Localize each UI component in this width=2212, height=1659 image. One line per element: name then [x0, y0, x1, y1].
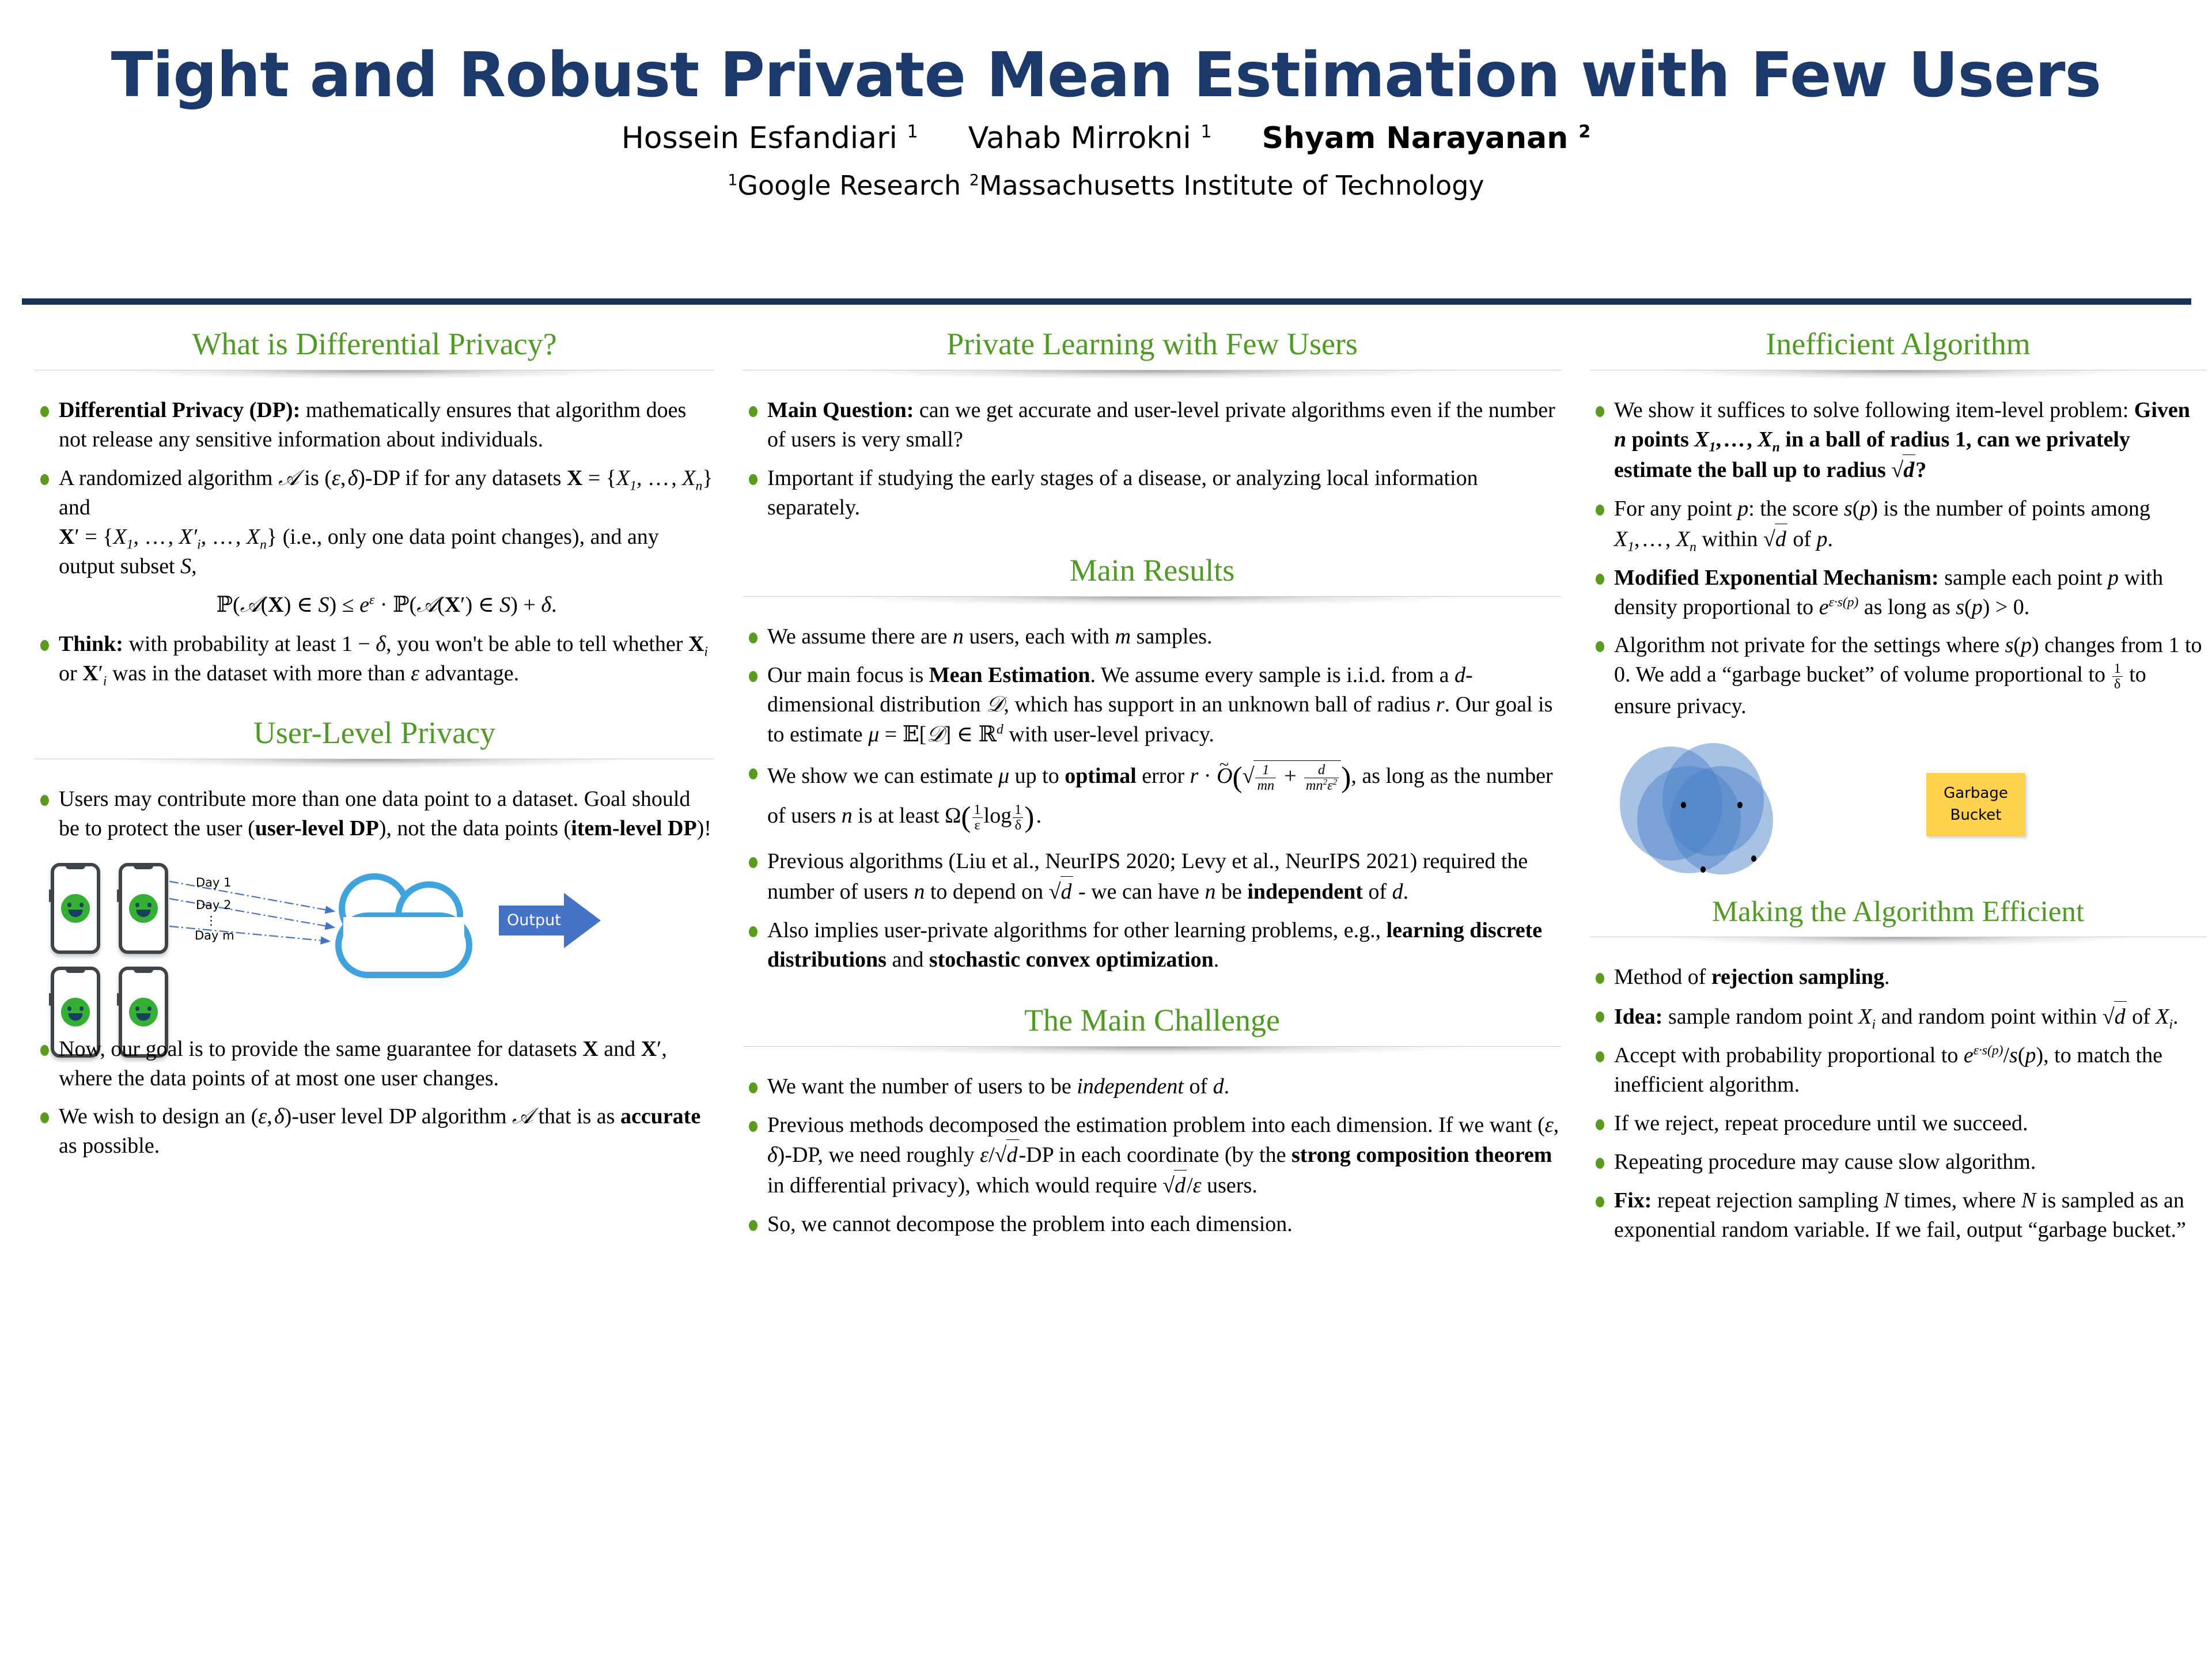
affiliation-list: 1Google Research 2Massachusetts Institut… — [0, 171, 2212, 200]
section-heading-inefficient-algorithm: Inefficient Algorithm — [1590, 323, 2206, 362]
author-list: Hossein Esfandiari 1 Vahab Mirrokni 1 Sh… — [0, 122, 2212, 155]
day-label-m: Day m — [195, 929, 234, 942]
bullet-list-private-learning: Main Question: can we get accurate and u… — [743, 396, 1561, 522]
section-heading-user-level-privacy: User-Level Privacy — [35, 711, 714, 751]
bullet-lead: Idea: — [1614, 1005, 1662, 1029]
bullet-lead: Fix: — [1614, 1188, 1652, 1213]
list-item: We wish to design an (ε, δ)-user level D… — [35, 1102, 714, 1161]
list-item: Think: with probability at least 1 − δ, … — [35, 630, 714, 688]
section-rule — [1590, 370, 2206, 383]
author-1: Hossein Esfandiari 1 — [622, 121, 918, 156]
affil-2-name: Massachusetts Institute of Technology — [979, 170, 1484, 201]
bullet-list-main-challenge: We want the number of users to be indepe… — [743, 1072, 1561, 1240]
list-item: Idea: sample random point Xi and random … — [1590, 1001, 2206, 1032]
arrow-head — [564, 893, 601, 948]
section-heading-main-challenge: The Main Challenge — [743, 999, 1561, 1038]
section-rule — [743, 596, 1561, 609]
poster-columns: What is Differential Privacy? Differenti… — [0, 323, 2212, 1659]
ball-circle — [1671, 766, 1773, 874]
list-item: Main Question: can we get accurate and u… — [743, 396, 1561, 454]
list-item: Accept with probability proportional to … — [1590, 1041, 2206, 1100]
list-item: Differential Privacy (DP): mathematicall… — [35, 396, 714, 454]
bullet-list-making-efficient: Method of rejection sampling. Idea: samp… — [1590, 963, 2206, 1244]
bullet-list-what-is-dp: Differential Privacy (DP): mathematicall… — [35, 396, 714, 688]
list-item: Algorithm not private for the settings w… — [1590, 631, 2206, 721]
output-label: Output — [507, 911, 561, 929]
list-item: For any point p: the score s(p) is the n… — [1590, 494, 2206, 554]
list-item: We assume there are n users, each with m… — [743, 622, 1561, 652]
equation-dp-definition: ℙ(𝒜(X) ∈ S) ≤ eε · ℙ(𝒜(X′) ∈ S) + δ. — [35, 590, 714, 619]
author-3-affil-mark: 2 — [1578, 122, 1590, 142]
list-item: A randomized algorithm 𝒜 is (ε, δ)-DP if… — [35, 464, 714, 581]
section-heading-making-efficient: Making the Algorithm Efficient — [1590, 892, 2206, 929]
affil-2-mark: 2 — [969, 171, 979, 189]
garbage-bucket-label-line2: Bucket — [1950, 805, 2002, 827]
data-point — [1681, 802, 1686, 808]
inefficient-algorithm-diagram: Garbage Bucket — [1590, 730, 2166, 885]
list-item: If we reject, repeat procedure until we … — [1590, 1109, 2206, 1138]
bullet-text: Important if studying the early stages o… — [767, 466, 1478, 520]
column-2: Private Learning with Few Users Main Que… — [743, 323, 1561, 1248]
author-2-affil-mark: 1 — [1200, 122, 1211, 142]
section-heading-what-is-dp: What is Differential Privacy? — [35, 323, 714, 362]
column-1: What is Differential Privacy? Differenti… — [35, 323, 714, 1170]
list-item: Also implies user-private algorithms for… — [743, 916, 1561, 975]
list-item: We show it suffices to solve following i… — [1590, 396, 2206, 485]
dp-inequality: ℙ(𝒜(X) ∈ S) ≤ eε · ℙ(𝒜(X′) ∈ S) + δ. — [59, 590, 714, 619]
day-label-1: Day 1 — [196, 876, 232, 889]
column-3: Inefficient Algorithm We show it suffice… — [1590, 323, 2206, 1254]
list-item: Our main focus is Mean Estimation. We as… — [743, 661, 1561, 749]
garbage-bucket-label-line1: Garbage — [1944, 783, 2008, 805]
header-divider — [22, 298, 2191, 305]
author-2: Vahab Mirrokni 1 — [968, 121, 1212, 156]
list-item: So, we cannot decompose the problem into… — [743, 1210, 1561, 1239]
bullet-list-user-level-after: Now, our goal is to provide the same gua… — [35, 1035, 714, 1161]
author-3: Shyam Narayanan 2 — [1262, 121, 1591, 156]
bullet-list-inefficient-algorithm: We show it suffices to solve following i… — [1590, 396, 2206, 721]
section-rule — [35, 759, 714, 772]
cloud-mask — [343, 917, 464, 947]
list-item: Modified Exponential Mechanism: sample e… — [1590, 563, 2206, 622]
list-item: We want the number of users to be indepe… — [743, 1072, 1561, 1101]
section-heading-main-results: Main Results — [743, 549, 1561, 588]
bullet-list-user-level-before: Users may contribute more than one data … — [35, 785, 714, 843]
output-arrow-icon: Output — [499, 893, 601, 948]
day-label-2: Day 2 — [196, 898, 232, 912]
data-point — [1700, 866, 1706, 873]
affil-1-name: Google Research — [737, 170, 961, 201]
list-item: We show we can estimate μ up to optimal … — [743, 758, 1561, 837]
bullet-lead: Main Question: — [767, 398, 914, 422]
data-point — [1737, 802, 1743, 808]
bullet-lead: Differential Privacy (DP): — [59, 398, 300, 422]
cloud-icon — [335, 866, 476, 982]
garbage-bucket-box: Garbage Bucket — [1926, 773, 2025, 836]
section-rule — [743, 370, 1561, 383]
list-item: Now, our goal is to provide the same gua… — [35, 1035, 714, 1093]
list-item: Important if studying the early stages o… — [743, 464, 1561, 522]
list-item: Previous methods decomposed the estimati… — [743, 1111, 1561, 1201]
list-item: Fix: repeat rejection sampling N times, … — [1590, 1186, 2206, 1245]
section-rule — [743, 1046, 1561, 1059]
day-label-ellipsis: ⋮ — [205, 914, 217, 927]
section-rule — [1590, 937, 2206, 950]
user-level-privacy-diagram: Day 1 Day 2 ⋮ Day m Output — [51, 854, 690, 1021]
list-item: Users may contribute more than one data … — [35, 785, 714, 843]
section-heading-private-learning: Private Learning with Few Users — [743, 323, 1561, 362]
bullet-list-main-results: We assume there are n users, each with m… — [743, 622, 1561, 975]
poster-header: Tight and Robust Private Mean Estimation… — [0, 0, 2212, 200]
list-item: Method of rejection sampling. — [1590, 963, 2206, 992]
section-rule — [35, 370, 714, 383]
page-title: Tight and Robust Private Mean Estimation… — [0, 43, 2212, 109]
bullet-lead: Modified Exponential Mechanism: — [1614, 566, 1939, 590]
affil-1-mark: 1 — [728, 171, 737, 189]
list-item: Repeating procedure may cause slow algor… — [1590, 1147, 2206, 1177]
author-1-affil-mark: 1 — [907, 122, 918, 142]
list-item: Previous algorithms (Liu et al., NeurIPS… — [743, 847, 1561, 907]
data-point — [1751, 855, 1756, 862]
bullet-lead: Think: — [59, 632, 123, 656]
